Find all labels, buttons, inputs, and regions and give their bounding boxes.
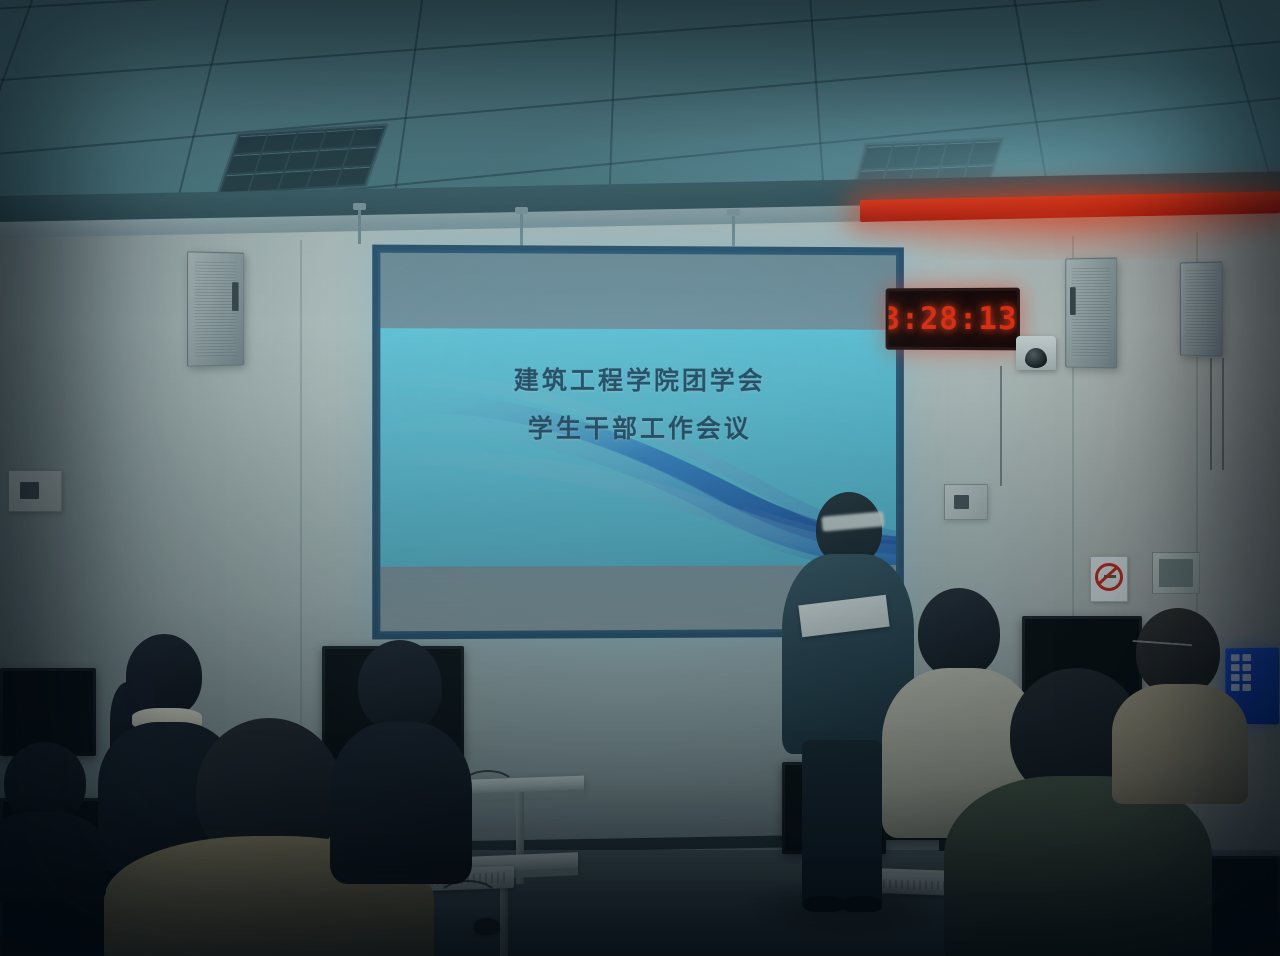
wall-speaker-right-b	[1180, 261, 1223, 356]
classroom-photo: 建筑工程学院团学会 学生干部工作会议 3:28:13	[0, 0, 1280, 956]
student-far-left-body	[0, 812, 106, 902]
wall-electrical-box-center	[944, 484, 988, 520]
ceiling-dome-camera	[1016, 336, 1056, 370]
wall-cable-c	[1222, 358, 1224, 470]
student-cream-head	[918, 588, 1000, 678]
wall-electrical-box-left	[8, 470, 62, 512]
mouse-cable	[436, 880, 500, 920]
wall-cable-b	[1210, 358, 1212, 470]
led-wall-clock: 3:28:13	[886, 288, 1020, 351]
wall-cabinet-right	[1152, 552, 1200, 594]
no-smoking-sign	[1090, 556, 1128, 602]
screen-top-band	[380, 253, 896, 330]
screen-hanger-left	[358, 208, 361, 244]
student-far-left-edge	[0, 742, 100, 892]
student-center-dark-coat	[330, 640, 470, 870]
screen-hanger-mid	[520, 212, 523, 246]
presenter-shoe-right	[842, 896, 882, 912]
clock-time-display: 3:28:13	[886, 301, 1018, 337]
student-glasses-tan	[1114, 608, 1244, 798]
wall-speaker-left	[187, 251, 244, 366]
wall-speaker-right-a	[1065, 257, 1117, 368]
screen-hanger-right	[732, 214, 735, 246]
ceiling-air-vent-left	[215, 123, 388, 196]
student-center-coat	[330, 722, 472, 884]
slide-title-line-2: 学生干部工作会议	[380, 414, 896, 442]
presenter-trousers	[802, 740, 882, 908]
student-center-head	[358, 640, 442, 732]
wall-cable-a	[1000, 366, 1002, 486]
slide-title-line-1: 建筑工程学院团学会	[380, 367, 896, 395]
presenter-shoe-left	[804, 896, 844, 912]
student-glasses-jacket	[1112, 684, 1248, 804]
computer-mouse-left	[474, 918, 500, 935]
slide-title-block: 建筑工程学院团学会 学生干部工作会议	[380, 367, 896, 443]
